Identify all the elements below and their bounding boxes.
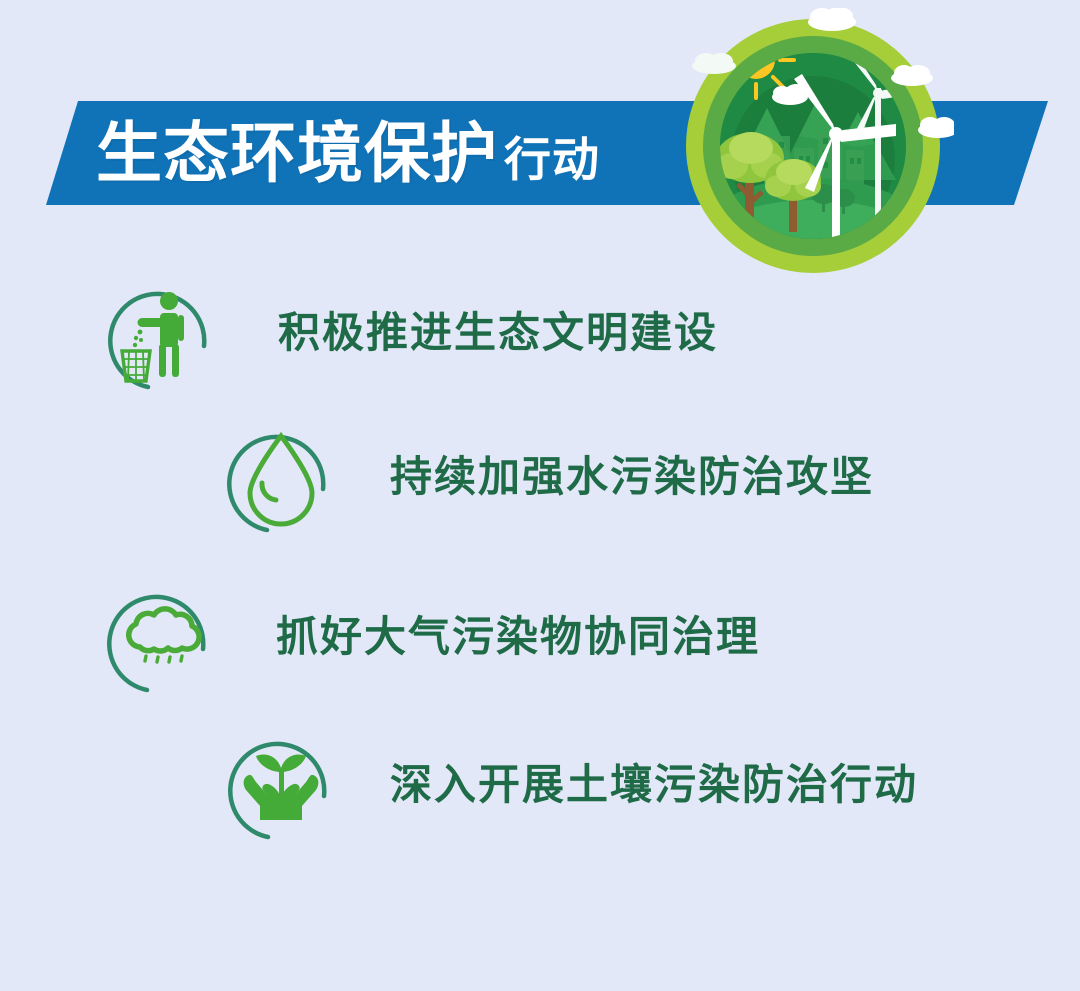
hands-sprout-icon [216, 720, 346, 850]
water-drop-icon [216, 412, 346, 542]
cloud-icon-left [692, 53, 736, 74]
list-item-label: 积极推进生态文明建设 [278, 312, 718, 354]
list-item-label: 深入开展土壤污染防治行动 [390, 764, 918, 806]
litter-bin-person-icon [96, 268, 226, 398]
list-item[interactable]: 抓好大气污染物协同治理 [96, 572, 760, 702]
list-item[interactable]: 持续加强水污染防治攻坚 [216, 412, 874, 542]
page-title: 生态环境保护 行动 [96, 107, 600, 199]
list-item-label: 持续加强水污染防治攻坚 [390, 456, 874, 498]
infographic-page: 生态环境保护 行动 [0, 0, 1080, 991]
page-title-sub: 行动 [504, 136, 600, 183]
cloud-icon-top-right [808, 8, 856, 31]
cloud-icon-right-upper [891, 65, 933, 86]
list-item-label: 抓好大气污染物协同治理 [276, 616, 760, 658]
list-item[interactable]: 积极推进生态文明建设 [96, 268, 718, 398]
rain-cloud-icon [96, 572, 226, 702]
eco-circle-illustration [672, 8, 954, 280]
list-item[interactable]: 深入开展土壤污染防治行动 [216, 720, 918, 850]
page-title-main: 生态环境保护 [96, 120, 498, 186]
cloud-icon-right-lower [918, 117, 954, 138]
